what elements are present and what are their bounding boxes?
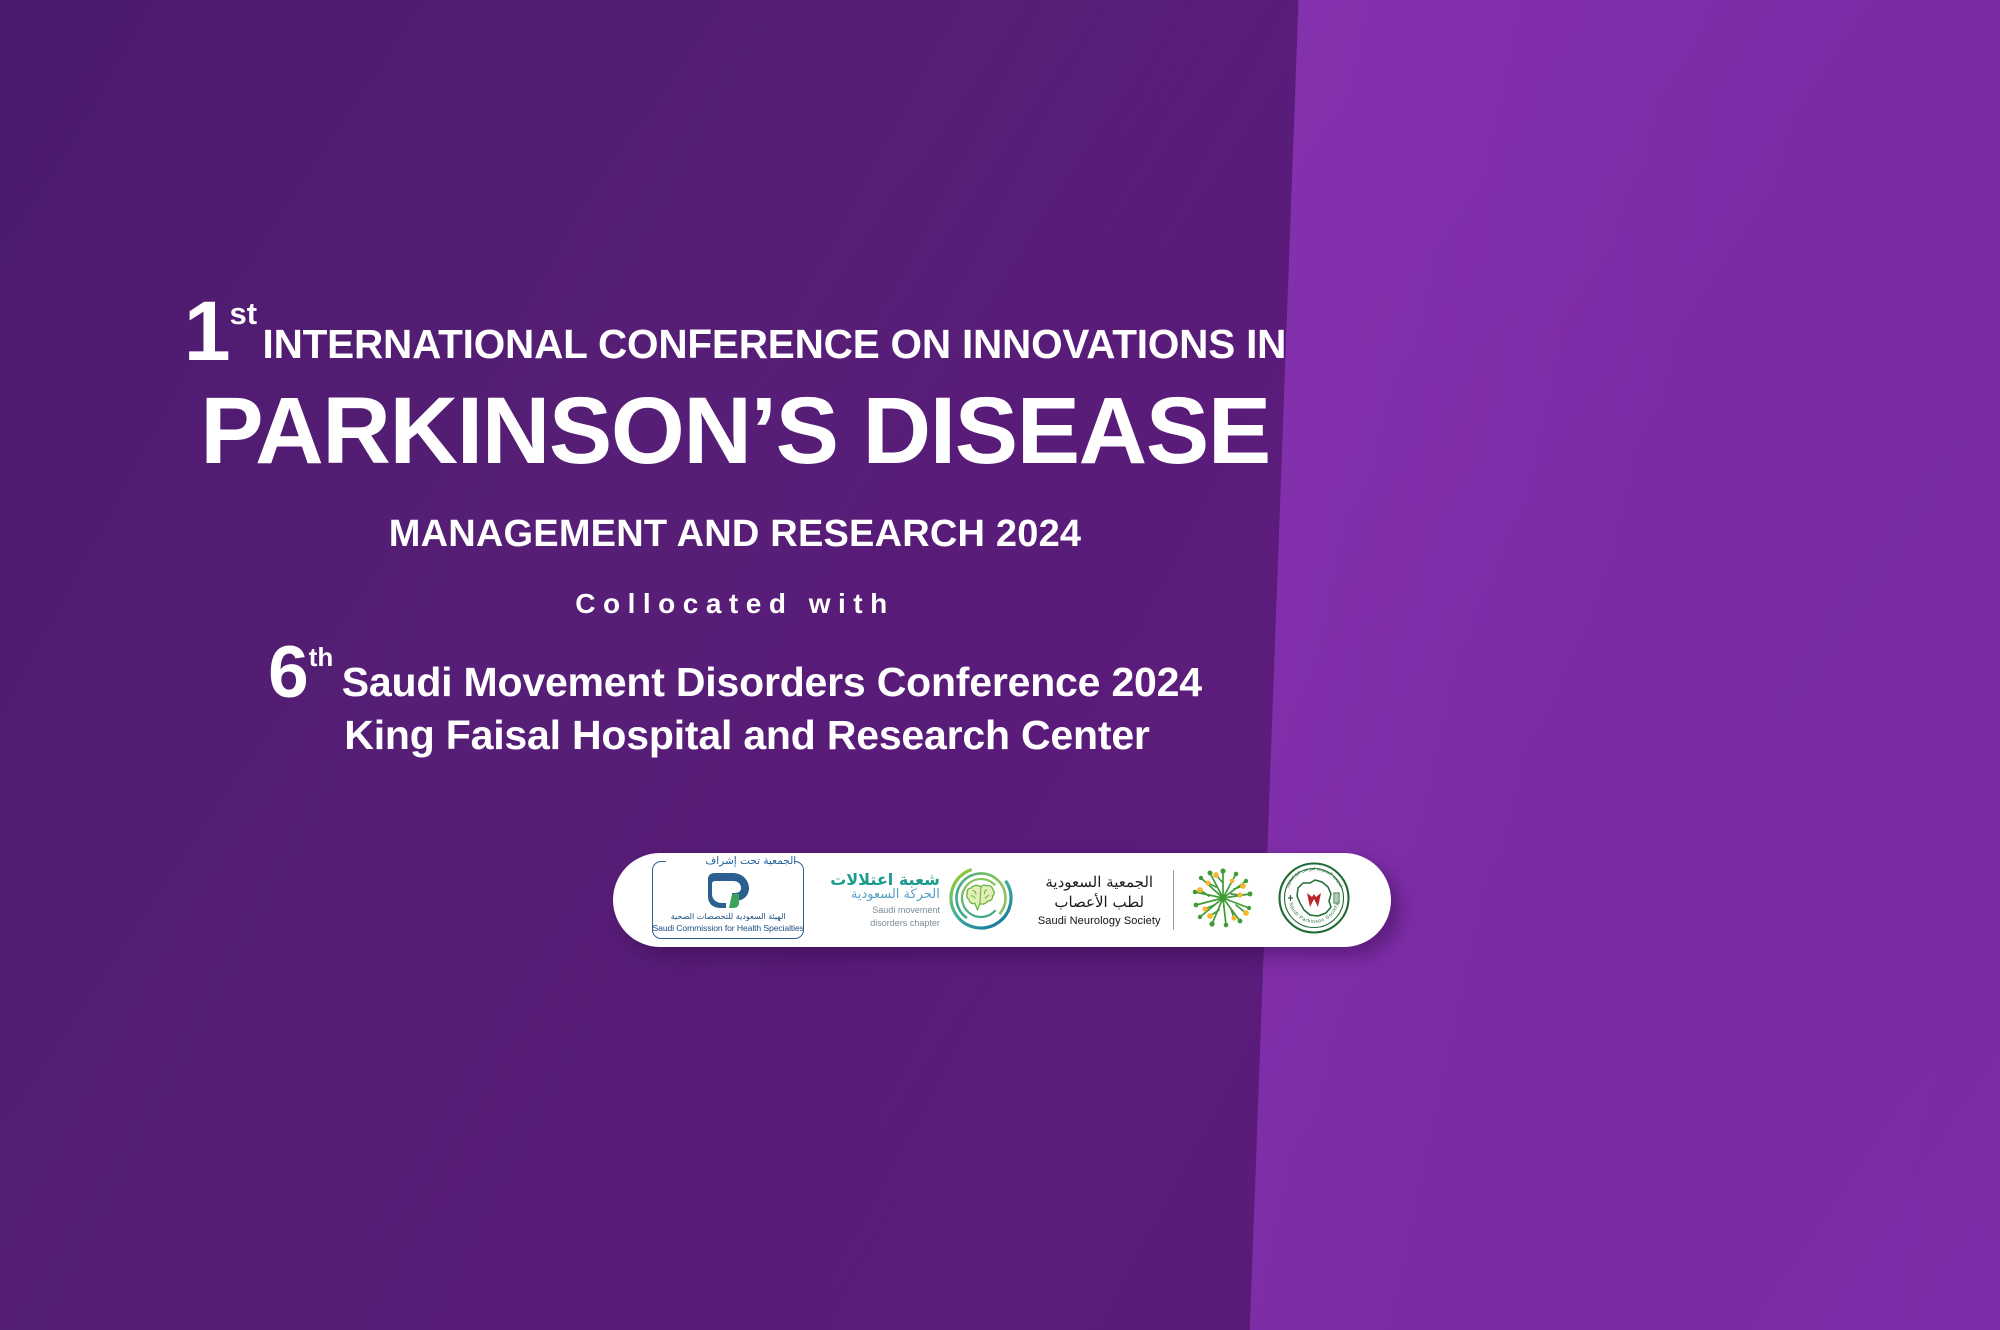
scfhs-supervision-label: الجمعية تحت إشراف — [705, 853, 796, 870]
logo-saudi-movement-disorders-chapter: شعبة اعتلالات الحركة السعودية Saudi move… — [804, 853, 1016, 947]
scfhs-emblem-icon — [702, 870, 754, 915]
neuron-starburst-icon — [1186, 861, 1260, 940]
smdc-arabic-line-2: الحركة السعودية — [830, 888, 940, 903]
ordinal-line-1: 1 st INTERNATIONAL CONFERENCE ON INNOVAT… — [0, 296, 1470, 367]
second-conference-name: Saudi Movement Disorders Conference 2024 — [308, 662, 1202, 703]
banner-content: 1 st INTERNATIONAL CONFERENCE ON INNOVAT… — [0, 0, 1470, 1330]
saudi-parkinson-society-seal-icon: الجمعية السعودية لمرضى الباركنسون Saudi … — [1274, 858, 1354, 943]
venue-name: King Faisal Hospital and Research Center — [0, 712, 1470, 759]
sns-arabic-line-2: لطب الأعصاب — [1038, 893, 1161, 913]
conference-subtitle: MANAGEMENT AND RESEARCH 2024 — [0, 513, 1470, 556]
logo-saudi-parkinson-society: الجمعية السعودية لمرضى الباركنسون Saudi … — [1274, 853, 1354, 947]
collocated-label: Collocated with — [0, 588, 1470, 620]
logo-saudi-neurology-society: الجمعية السعودية لطب الأعصاب Saudi Neuro… — [1016, 853, 1260, 947]
organizer-logo-bar: الجمعية تحت إشراف الهيئة السعودية للتخصص… — [613, 853, 1391, 947]
ordinal-6th: 6 th — [268, 642, 308, 703]
scfhs-arabic-name: الهيئة السعودية للتخصصات الصحية — [652, 912, 804, 921]
scfhs-english-name: Saudi Commission for Health Specialties — [652, 923, 804, 933]
logo-divider — [1173, 870, 1174, 930]
sns-arabic-line-1: الجمعية السعودية — [1038, 873, 1161, 893]
ordinal-1st: 1 st — [184, 296, 229, 367]
logo-saudi-commission-health-specialties: الجمعية تحت إشراف الهيئة السعودية للتخصص… — [620, 853, 804, 947]
smdc-arabic-line-1: شعبة اعتلالات — [830, 871, 940, 888]
conference-banner: 1 st INTERNATIONAL CONFERENCE ON INNOVAT… — [0, 0, 2000, 1330]
ordinal-line-6: 6 th Saudi Movement Disorders Conference… — [0, 642, 1470, 703]
smdc-english-line-1: Saudi movement — [830, 905, 940, 916]
page-title: PARKINSON’S DISEASE — [0, 383, 1470, 480]
conference-line-1: INTERNATIONAL CONFERENCE ON INNOVATIONS … — [229, 324, 1287, 365]
ordinal-number-second: 6 — [268, 642, 308, 703]
title-block: 1 st INTERNATIONAL CONFERENCE ON INNOVAT… — [0, 296, 1470, 759]
smdc-english-line-2: disorders chapter — [830, 918, 940, 929]
brain-swirl-icon — [946, 863, 1016, 938]
ordinal-number: 1 — [184, 296, 229, 367]
sns-english-name: Saudi Neurology Society — [1038, 915, 1161, 927]
